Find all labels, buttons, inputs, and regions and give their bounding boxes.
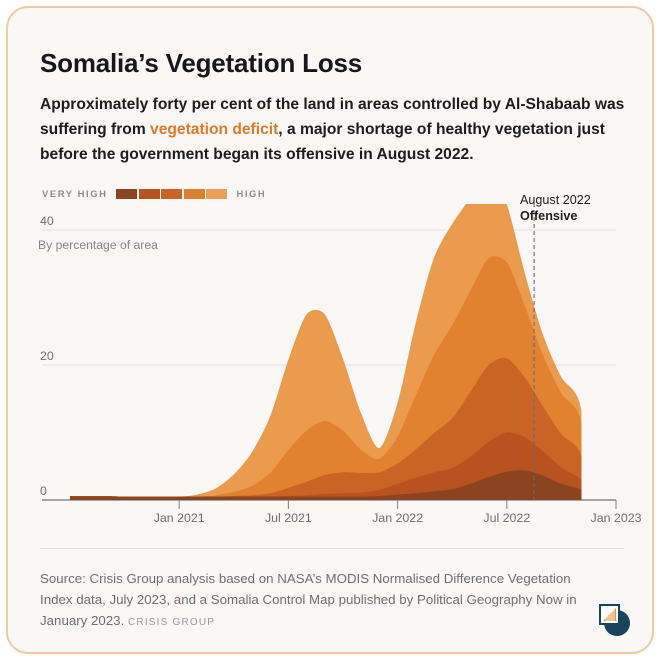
brand-name: CRISIS GROUP bbox=[128, 617, 215, 628]
x-tick-label-4: Jan 2023 bbox=[591, 511, 642, 525]
y-tick-40: 40 bbox=[40, 214, 54, 228]
annotation-event: Offensive bbox=[520, 208, 591, 224]
page-title: Somalia’s Vegetation Loss bbox=[40, 48, 362, 79]
source-text: Source: Crisis Group analysis based on N… bbox=[40, 571, 577, 628]
legend-swatch-1 bbox=[139, 189, 160, 199]
x-tick-label-1: Jul 2021 bbox=[265, 511, 312, 525]
infographic-card: Somalia’s Vegetation Loss Approximately … bbox=[6, 6, 654, 654]
annotation-date: August 2022 bbox=[520, 192, 591, 208]
x-tick-label-3: Jul 2022 bbox=[483, 511, 530, 525]
deck-highlight: vegetation deficit bbox=[150, 121, 278, 138]
legend-swatch-4 bbox=[206, 189, 227, 199]
x-tick-label-0: Jan 2021 bbox=[154, 511, 205, 525]
y-tick-0: 0 bbox=[40, 484, 47, 498]
y-tick-20: 20 bbox=[40, 349, 54, 363]
legend-swatch-2 bbox=[161, 189, 182, 199]
crisis-group-logo bbox=[594, 600, 634, 640]
legend-swatches bbox=[116, 189, 227, 199]
legend-swatch-3 bbox=[184, 189, 205, 199]
deck-text: Approximately forty per cent of the land… bbox=[40, 92, 630, 167]
x-tick-label-2: Jan 2022 bbox=[372, 511, 423, 525]
legend-swatch-0 bbox=[116, 189, 137, 199]
legend-label-high: HIGH bbox=[236, 188, 266, 199]
legend-label-very-high: VERY HIGH bbox=[42, 188, 107, 199]
footer-divider bbox=[40, 548, 624, 549]
legend: VERY HIGH HIGH bbox=[42, 188, 266, 199]
source-note: Source: Crisis Group analysis based on N… bbox=[40, 568, 580, 633]
y-axis-label: By percentage of area bbox=[38, 237, 168, 253]
offensive-annotation: August 2022 Offensive bbox=[520, 192, 591, 224]
